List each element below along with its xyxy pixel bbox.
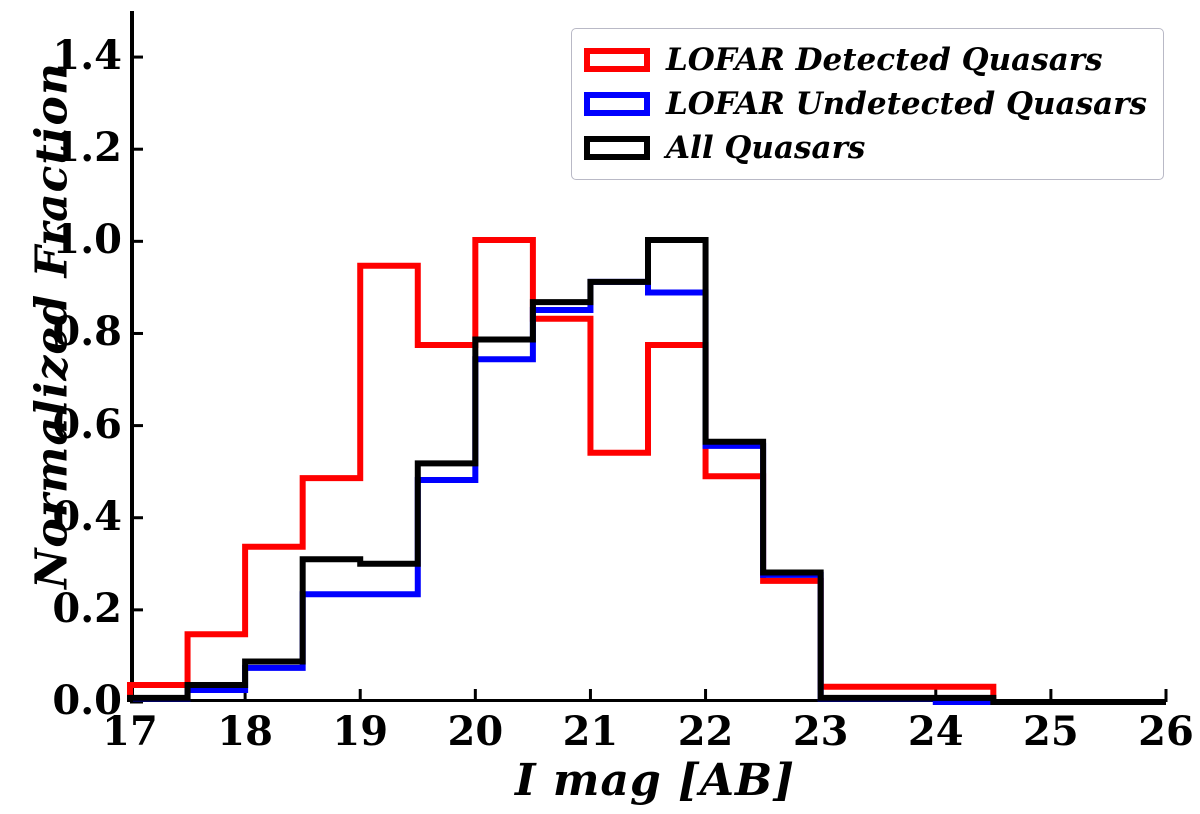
legend-entry-lofar-undetected[interactable]: LOFAR Undetected Quasars <box>584 82 1147 126</box>
legend: LOFAR Detected Quasars LOFAR Undetected … <box>571 28 1164 180</box>
legend-label-all-quasars: All Quasars <box>666 133 865 164</box>
legend-label-lofar-detected: LOFAR Detected Quasars <box>666 45 1103 76</box>
legend-label-lofar-undetected: LOFAR Undetected Quasars <box>666 89 1147 120</box>
legend-swatch-all-quasars <box>584 136 650 160</box>
legend-swatch-lofar-undetected <box>584 92 650 116</box>
histogram-series <box>130 240 1166 702</box>
histogram-series <box>130 240 1166 702</box>
chart-page: Normalized Fraction I mag [AB] 0.00.20.4… <box>0 0 1200 814</box>
legend-entry-all-quasars[interactable]: All Quasars <box>584 126 1147 170</box>
legend-swatch-lofar-detected <box>584 48 650 72</box>
legend-entry-lofar-detected[interactable]: LOFAR Detected Quasars <box>584 38 1147 82</box>
